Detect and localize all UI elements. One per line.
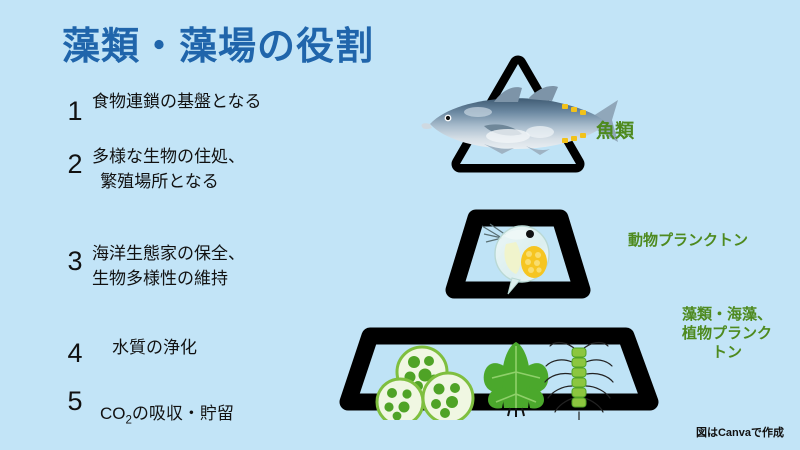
tier-label-line: 植物プランク	[672, 325, 782, 344]
list-item: 1 食物連鎖の基盤となる	[58, 90, 262, 125]
list-item-number: 2	[58, 151, 92, 178]
list-item-number: 4	[58, 340, 92, 367]
list-item-text: 水質の浄化	[92, 336, 227, 361]
pyramid-tier-top	[421, 64, 618, 164]
list-item: 4 水質の浄化	[58, 336, 227, 367]
list-item-line: 海洋生態家の保全、	[92, 242, 246, 267]
page-title: 藻類・藻場の役割	[62, 27, 374, 69]
trophic-pyramid-diagram	[330, 50, 670, 420]
list-item-text: 海洋生態家の保全、 生物多様性の維持	[92, 242, 246, 291]
pyramid-tier-middle	[454, 218, 582, 294]
list-item-line: 繁殖場所となる	[92, 170, 245, 195]
tier-label-fish: 魚類	[596, 120, 634, 144]
list-item-line-co2: CO2の吸収・貯留	[100, 402, 234, 429]
list-item-text: 食物連鎖の基盤となる	[92, 90, 262, 115]
list-item-number: 5	[58, 388, 92, 415]
tier-label-line: 藻類・海藻、	[672, 306, 782, 325]
tier-label-line: トン	[672, 344, 782, 363]
tier-label-producers: 藻類・海藻、 植物プランク トン	[672, 306, 782, 362]
list-item-line: 多様な生物の住処、	[92, 145, 245, 170]
pyramid-tier-bottom	[348, 336, 650, 420]
list-item-line: 食物連鎖の基盤となる	[92, 90, 262, 115]
co2-prefix: CO	[100, 404, 126, 423]
slide-canvas: 藻類・藻場の役割 1 食物連鎖の基盤となる 2 多様な生物の住処、 繁殖場所とな…	[0, 0, 800, 450]
list-item-number: 1	[58, 98, 92, 125]
list-item: 2 多様な生物の住処、 繁殖場所となる	[58, 145, 245, 194]
list-item-text: 多様な生物の住処、 繁殖場所となる	[92, 145, 245, 194]
list-item-line: 水質の浄化	[112, 336, 227, 361]
list-item: 3 海洋生態家の保全、 生物多様性の維持	[58, 242, 246, 291]
credit-text: 図はCanvaで作成	[696, 424, 784, 440]
co2-suffix: の吸収・貯留	[132, 404, 234, 423]
list-item: 5 CO2の吸収・貯留	[58, 388, 234, 429]
tier-label-zooplankton: 動物プランクトン	[628, 232, 748, 251]
list-item-number: 3	[58, 248, 92, 275]
list-item-line: 生物多様性の維持	[92, 267, 246, 292]
egg-cluster	[521, 246, 547, 278]
list-item-text: CO2の吸収・貯留	[92, 402, 234, 429]
